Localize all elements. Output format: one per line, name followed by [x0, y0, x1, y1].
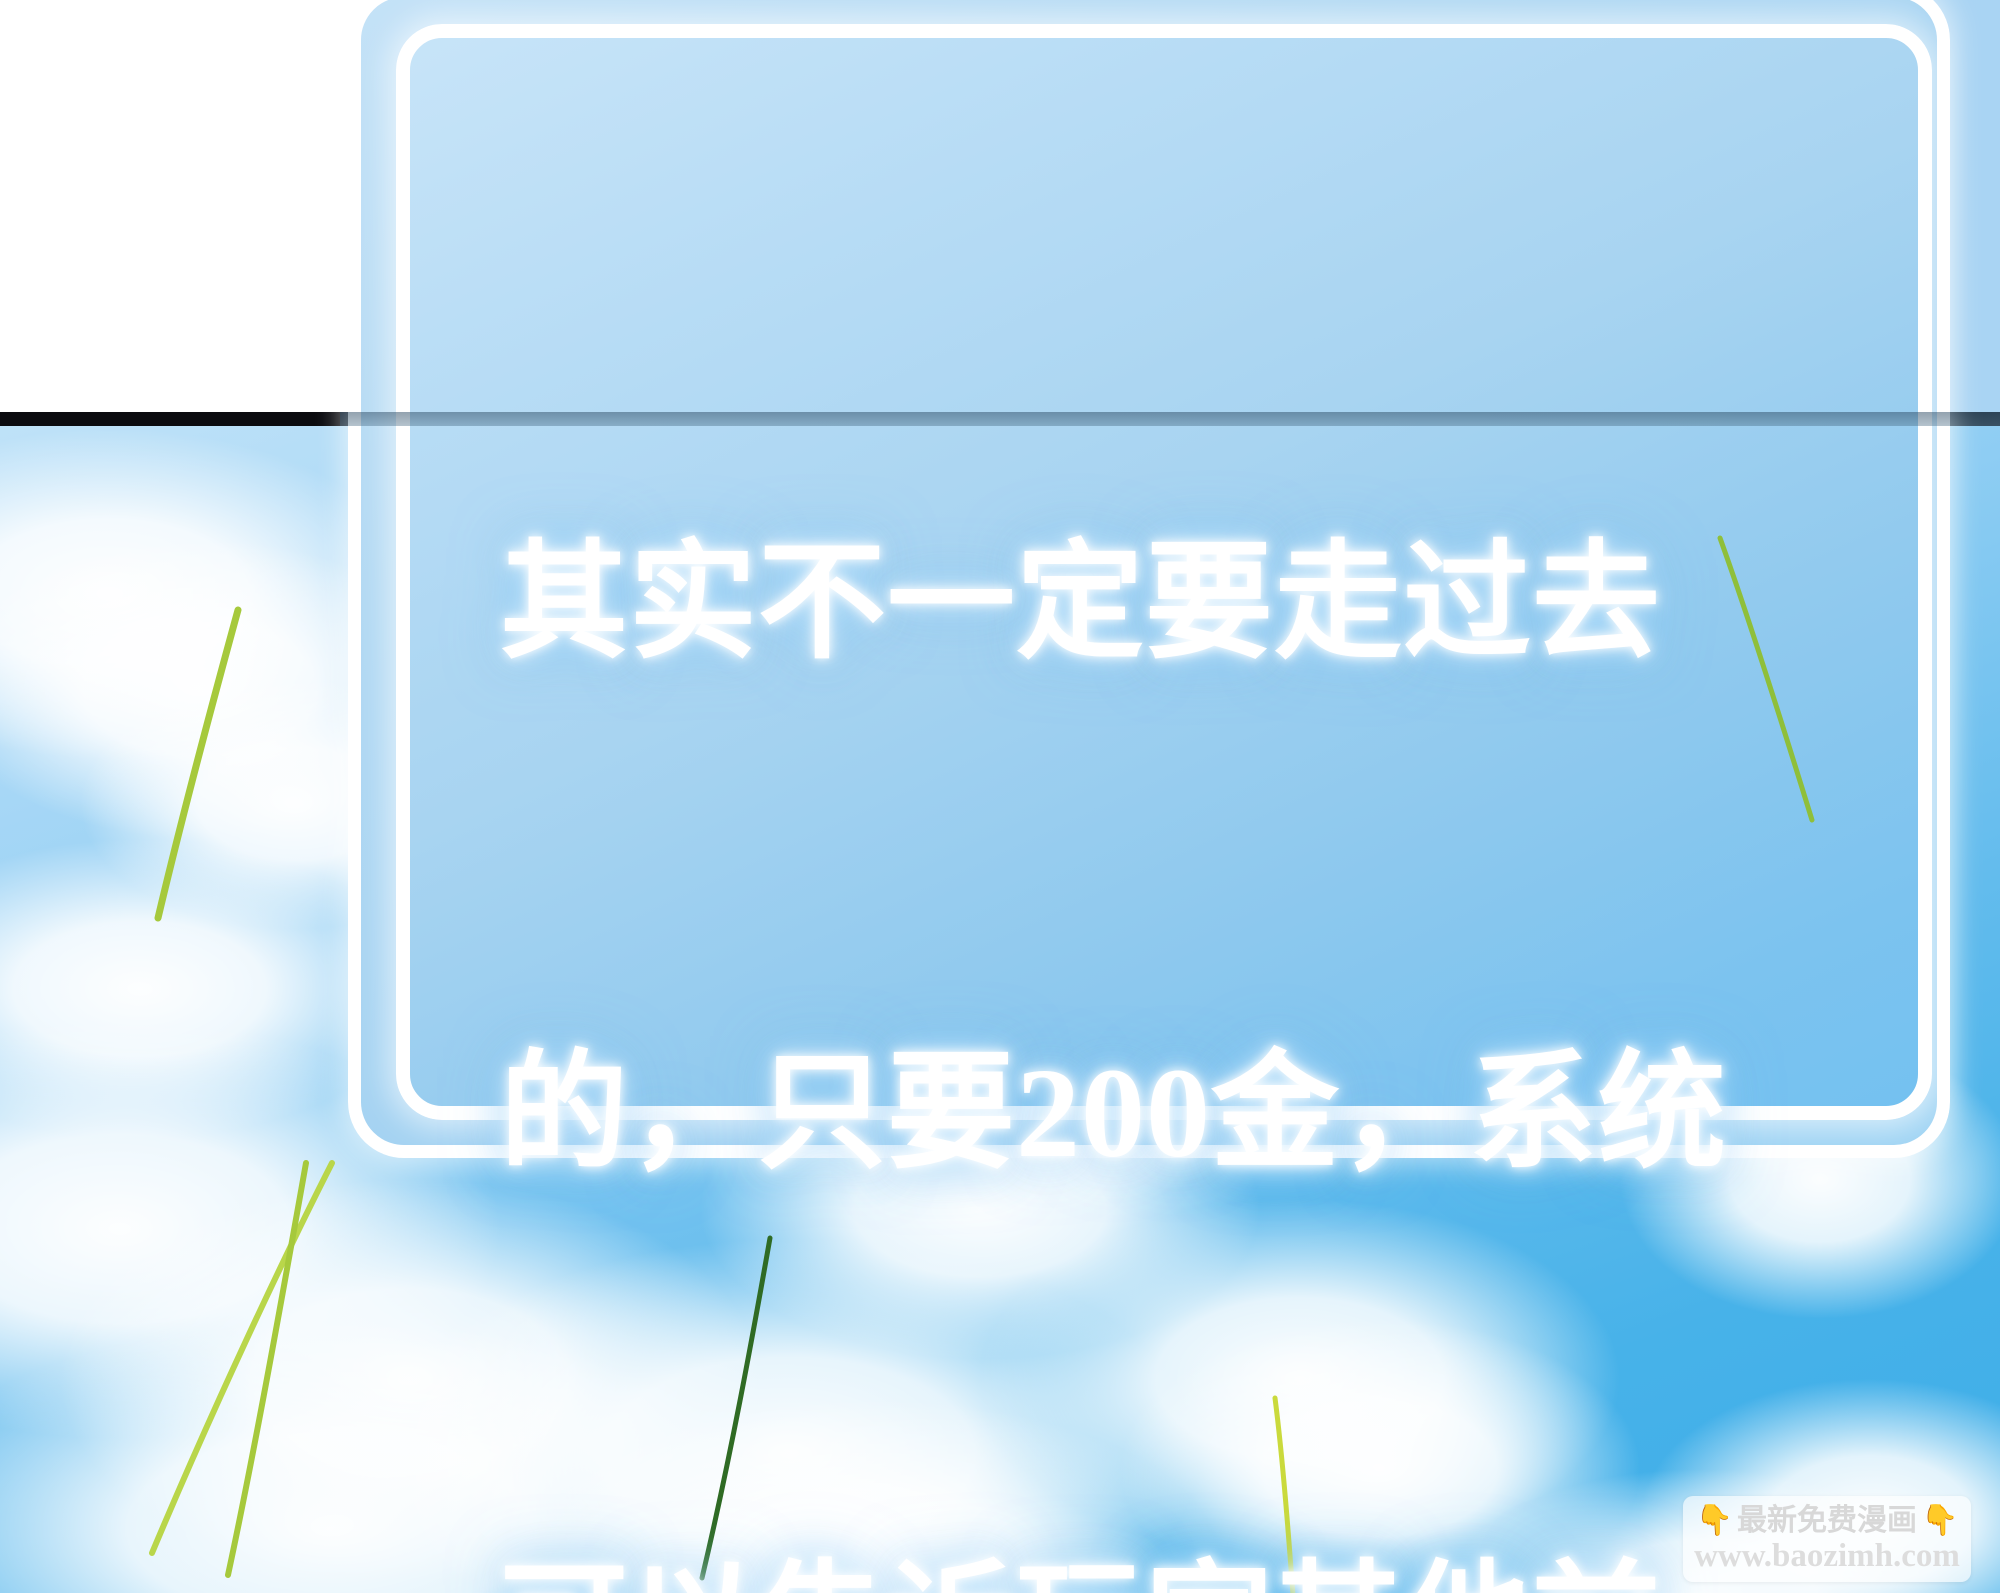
dialogue-line-1: 其实不一定要走过去	[500, 518, 1900, 688]
watermark-url[interactable]: www.baozimh.com	[1694, 1538, 1960, 1574]
site-watermark[interactable]: 👇 最新免费漫画 👇 www.baozimh.com	[1683, 1496, 1971, 1582]
watermark-tagline: 最新免费漫画	[1737, 1504, 1917, 1538]
dialogue-text: 其实不一定要走过去 的，只要200金，系统 可以告诉玩家其他前 往目的地的方法。	[500, 178, 1900, 1593]
watermark-tagline-row: 👇 最新免费漫画 👇	[1696, 1504, 1959, 1538]
comic-panel-page: 其实不一定要走过去 的，只要200金，系统 可以告诉玩家其他前 往目的地的方法。…	[0, 0, 2000, 1593]
pointing-hand-icon-right: 👇	[1921, 1504, 1958, 1538]
pointing-hand-icon-left: 👇	[1696, 1504, 1733, 1538]
dialogue-line-2: 的，只要200金，系统	[500, 1028, 1900, 1198]
